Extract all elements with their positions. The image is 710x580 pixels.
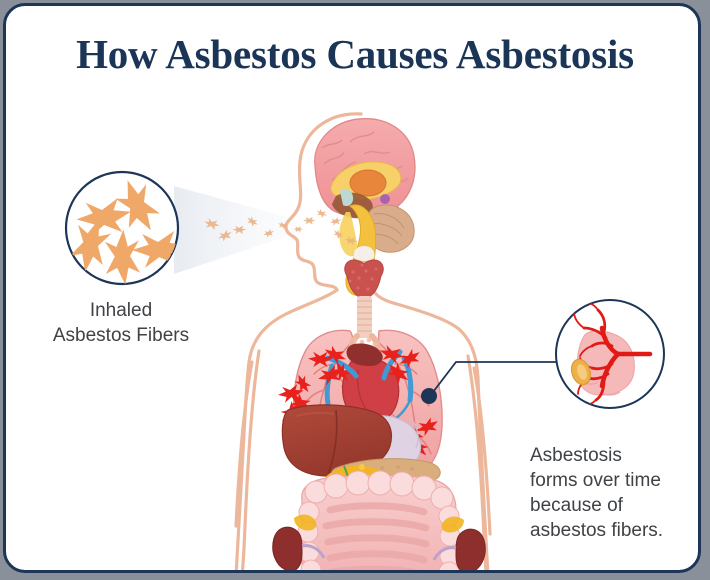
connector-dot xyxy=(421,388,437,404)
left-callout-circle[interactable] xyxy=(66,172,189,285)
right-callout-caption: Asbestosis forms over time because of as… xyxy=(530,443,698,543)
left-caption-line-1: Inhaled xyxy=(21,298,221,323)
infographic-stage: How Asbestos Causes Asbestosis xyxy=(0,0,710,580)
left-caption-line-2: Asbestos Fibers xyxy=(21,323,221,348)
right-caption-line-3: because of xyxy=(530,493,698,518)
infographic-card: How Asbestos Causes Asbestosis xyxy=(3,3,701,573)
right-caption-line-2: forms over time xyxy=(530,468,698,493)
right-caption-line-1: Asbestosis xyxy=(530,443,698,468)
right-caption-line-4: asbestos fibers. xyxy=(530,518,698,543)
right-callout-circle[interactable] xyxy=(556,300,664,408)
left-callout-caption: Inhaled Asbestos Fibers xyxy=(21,298,221,348)
right-connector-line xyxy=(421,362,558,404)
